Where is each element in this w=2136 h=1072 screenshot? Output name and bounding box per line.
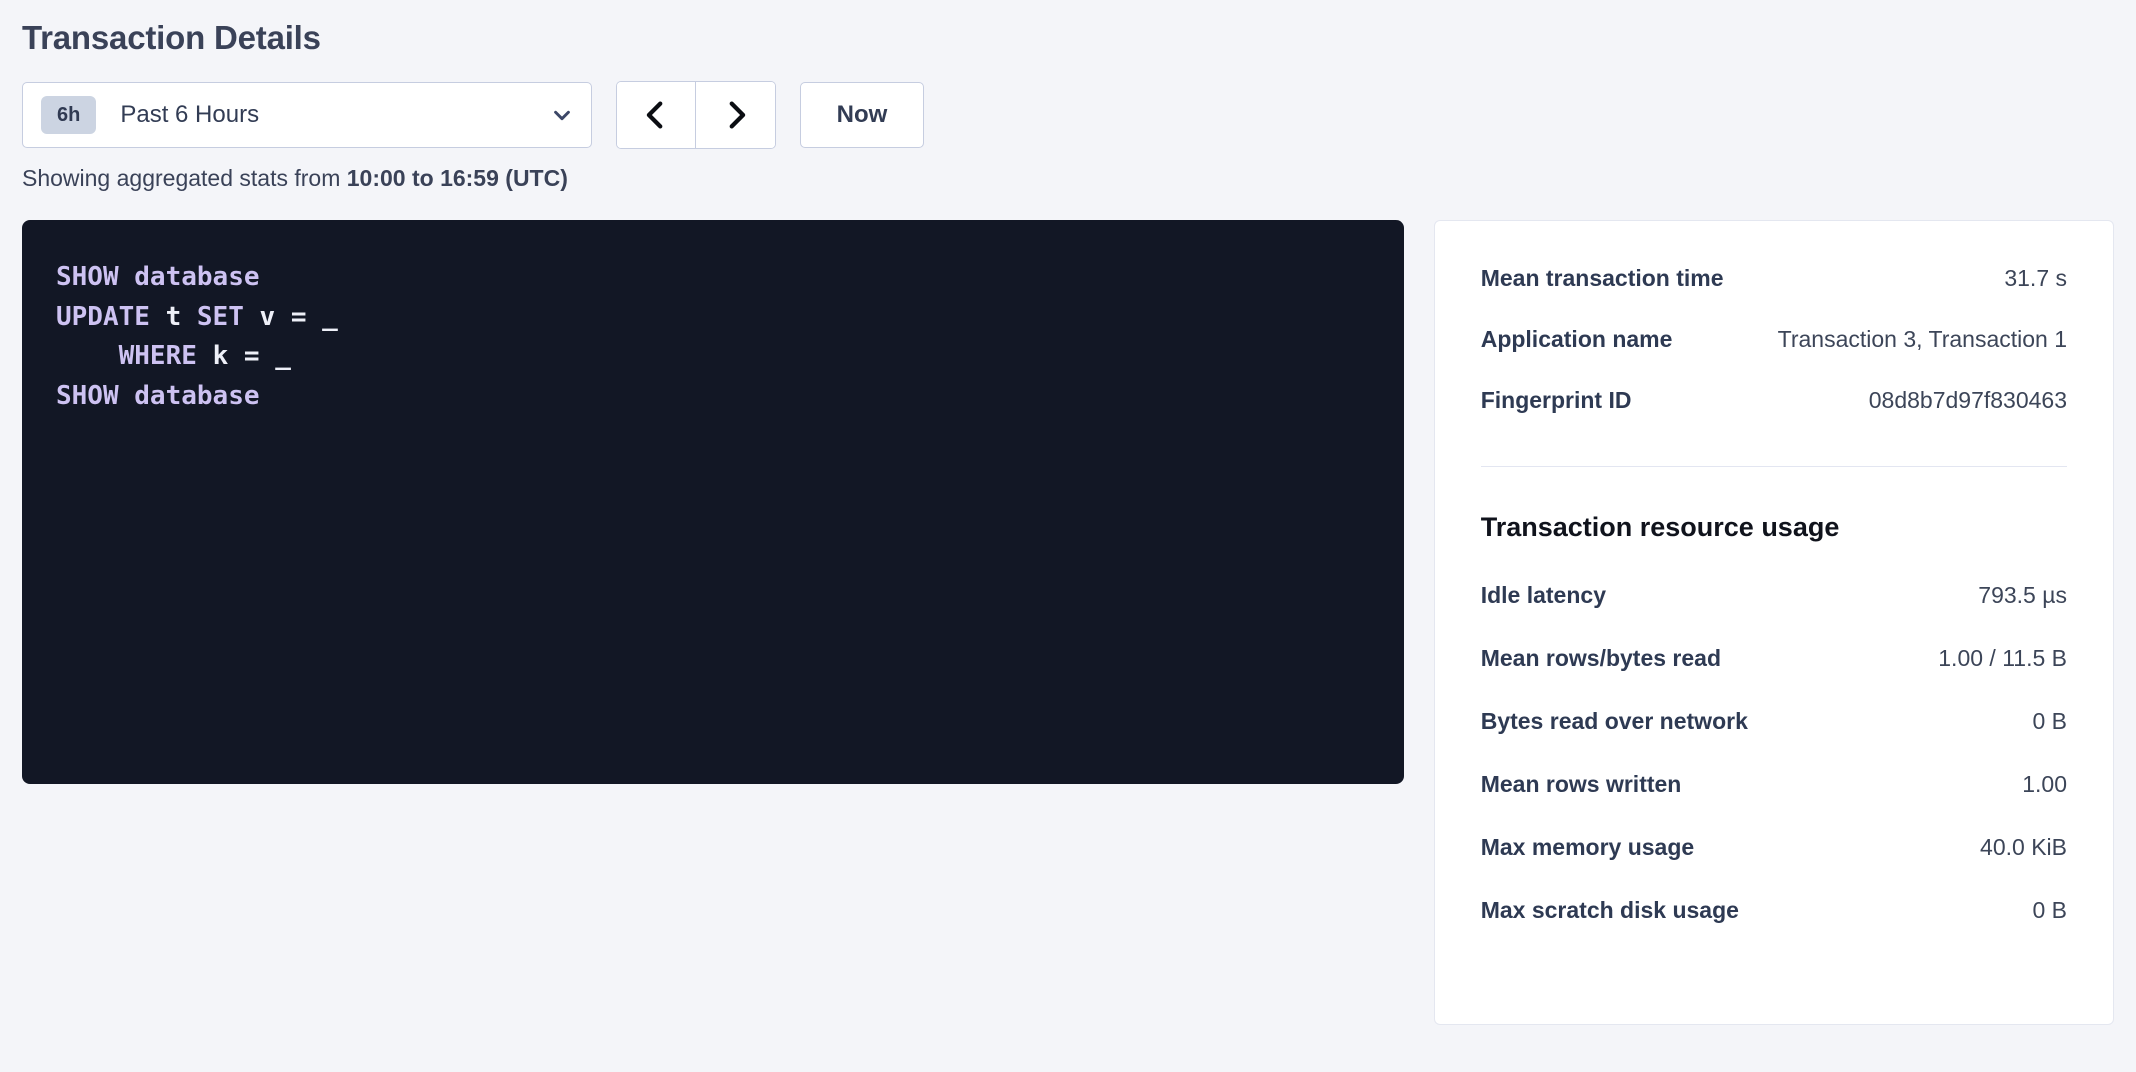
sql-token-op: = [291,302,307,332]
stat-row: Mean rows written1.00 [1481,771,2067,798]
time-range-select[interactable]: 6h Past 6 Hours [22,82,592,148]
time-step-buttons [616,81,776,149]
sql-statement-panel: SHOW database UPDATE t SET v = _ WHERE k… [22,220,1404,784]
stat-label: Max scratch disk usage [1481,897,1739,924]
chevron-down-icon [551,104,573,126]
sql-token-id: k [213,341,229,371]
sql-token-kw: SHOW [56,262,119,292]
stat-value: 0 B [2032,897,2067,924]
stat-label: Mean rows written [1481,771,1682,798]
details-content: SHOW database UPDATE t SET v = _ WHERE k… [22,220,2114,1025]
sql-token-kw: database [134,381,259,411]
aggregation-range-text: Showing aggregated stats from 10:00 to 1… [22,165,2114,193]
stat-value: 08d8b7d97f830463 [1869,387,2067,414]
time-range-label: Past 6 Hours [120,101,551,129]
stat-value: 31.7 s [2004,265,2067,292]
card-divider [1481,466,2067,467]
stat-value: Transaction 3, Transaction 1 [1778,326,2067,353]
sql-token-op [181,302,197,332]
sql-token-ph: _ [322,302,338,332]
stat-value: 40.0 KiB [1980,834,2067,861]
stat-row: Idle latency793.5 µs [1481,582,2067,609]
sql-token-op [228,341,244,371]
time-range-badge: 6h [41,96,96,134]
sql-token-kw: database [134,262,259,292]
summary-stats-list: Mean transaction time31.7 sApplication n… [1481,265,2067,414]
sql-token-id: t [166,302,182,332]
stat-row: Mean transaction time31.7 s [1481,265,2067,292]
page-title: Transaction Details [22,0,2114,58]
resource-usage-list: Idle latency793.5 µsMean rows/bytes read… [1481,582,2067,924]
sql-token-op [56,341,119,371]
stat-row: Max scratch disk usage0 B [1481,897,2067,924]
sql-token-kw: UPDATE [56,302,150,332]
stat-value: 0 B [2032,708,2067,735]
sql-token-op [119,262,135,292]
stat-row: Bytes read over network0 B [1481,708,2067,735]
sql-token-id: v [260,302,276,332]
sql-token-op [197,341,213,371]
time-range-toolbar: 6h Past 6 Hours Now [22,81,2114,149]
stat-row: Mean rows/bytes read1.00 / 11.5 B [1481,645,2067,672]
stat-label: Idle latency [1481,582,1606,609]
transaction-stats-card: Mean transaction time31.7 sApplication n… [1434,220,2114,1025]
stat-label: Mean transaction time [1481,265,1724,292]
sql-token-op [306,302,322,332]
next-period-button[interactable] [696,82,775,148]
stat-label: Application name [1481,326,1673,353]
sql-token-op [150,302,166,332]
sql-token-kw: SHOW [56,381,119,411]
resource-usage-heading: Transaction resource usage [1481,511,2067,543]
stat-row: Max memory usage40.0 KiB [1481,834,2067,861]
chevron-right-icon [719,98,753,132]
sql-token-op [119,381,135,411]
stat-label: Mean rows/bytes read [1481,645,1721,672]
sql-token-op [275,302,291,332]
stat-label: Fingerprint ID [1481,387,1632,414]
stat-label: Max memory usage [1481,834,1694,861]
stat-value: 793.5 µs [1978,582,2067,609]
aggregation-range-prefix: Showing aggregated stats from [22,165,347,191]
sql-statement-code: SHOW database UPDATE t SET v = _ WHERE k… [56,258,1370,416]
chevron-left-icon [639,98,673,132]
previous-period-button[interactable] [617,82,696,148]
stat-value: 1.00 / 11.5 B [1938,645,2067,672]
stat-row: Fingerprint ID08d8b7d97f830463 [1481,387,2067,414]
sql-token-kw: WHERE [119,341,197,371]
sql-token-ph: _ [275,341,291,371]
sql-token-op: = [244,341,260,371]
sql-token-kw: SET [197,302,244,332]
sql-token-op [244,302,260,332]
sql-token-op [260,341,276,371]
transaction-details-page: Transaction Details 6h Past 6 Hours Now [0,0,2136,1072]
stat-value: 1.00 [2022,771,2067,798]
stat-row: Application nameTransaction 3, Transacti… [1481,326,2067,353]
now-button[interactable]: Now [800,82,924,148]
aggregation-range-value: 10:00 to 16:59 (UTC) [347,165,568,191]
stat-label: Bytes read over network [1481,708,1748,735]
